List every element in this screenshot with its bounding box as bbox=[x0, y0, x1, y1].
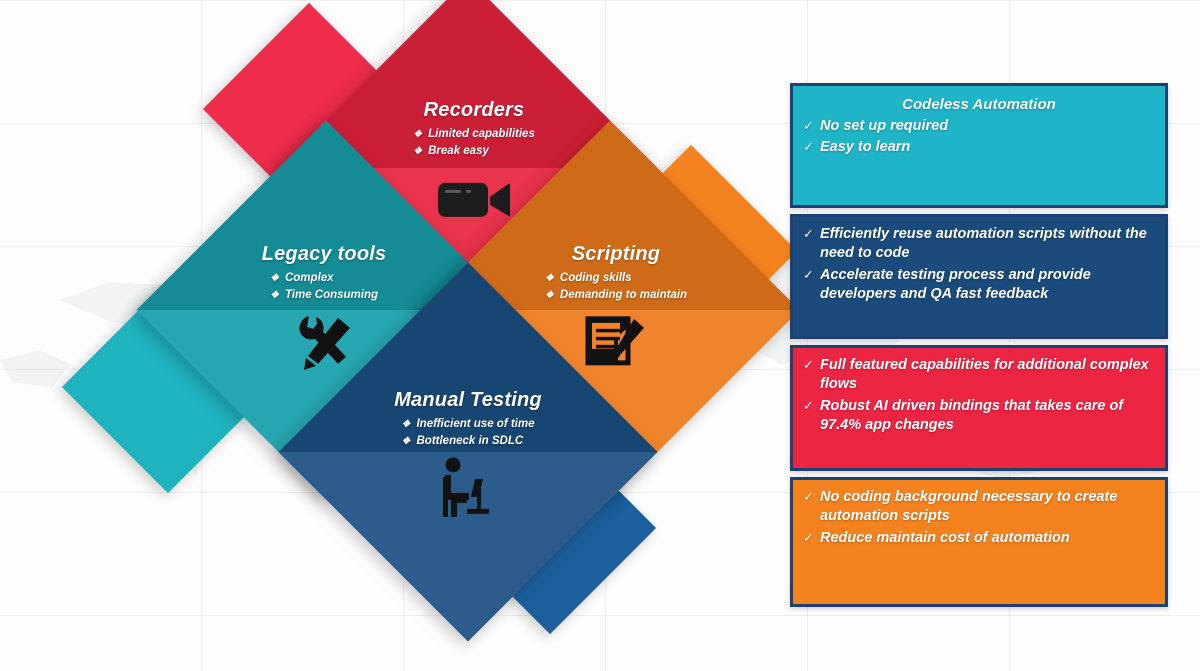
panel-items: ✓No set up required ✓Easy to learn bbox=[803, 117, 1155, 158]
panel-codeless-automation[interactable]: Codeless Automation ✓No set up required … bbox=[790, 83, 1168, 208]
panel-list-item: ✓Easy to learn bbox=[803, 138, 1155, 157]
check-icon: ✓ bbox=[803, 397, 814, 414]
check-icon: ✓ bbox=[803, 138, 814, 155]
panel-full-featured[interactable]: ✓Full featured capabilities for addition… bbox=[790, 345, 1168, 471]
check-icon: ✓ bbox=[803, 117, 814, 134]
panel-items: ✓Full featured capabilities for addition… bbox=[803, 356, 1155, 435]
check-icon: ✓ bbox=[803, 529, 814, 546]
infographic-canvas: Recorders ❖Limited capabilities ❖Break e… bbox=[0, 0, 1200, 671]
diamond-diagram: Recorders ❖Limited capabilities ❖Break e… bbox=[168, 26, 768, 646]
panel-item-text: Easy to learn bbox=[820, 139, 910, 155]
panel-item-text: No set up required bbox=[820, 118, 948, 134]
panel-item-text: Full featured capabilities for additiona… bbox=[820, 357, 1149, 392]
panel-list-item: ✓Full featured capabilities for addition… bbox=[803, 356, 1155, 395]
check-icon: ✓ bbox=[803, 266, 814, 283]
panel-item-text: Robust AI driven bindings that takes car… bbox=[820, 398, 1123, 433]
panel-item-text: Reduce maintain cost of automation bbox=[820, 530, 1070, 546]
panel-list-item: ✓No coding background necessary to creat… bbox=[803, 488, 1155, 527]
check-icon: ✓ bbox=[803, 488, 814, 505]
panel-item-text: Accelerate testing process and provide d… bbox=[820, 267, 1091, 302]
check-icon: ✓ bbox=[803, 225, 814, 242]
panel-list-item: ✓Robust AI driven bindings that takes ca… bbox=[803, 397, 1155, 436]
panel-list-item: ✓Accelerate testing process and provide … bbox=[803, 266, 1155, 305]
panel-reuse-scripts[interactable]: ✓Efficiently reuse automation scripts wi… bbox=[790, 214, 1168, 339]
panel-title-codeless-automation: Codeless Automation bbox=[803, 96, 1155, 113]
benefits-panel-list: Codeless Automation ✓No set up required … bbox=[790, 83, 1168, 613]
panel-item-text: No coding background necessary to create… bbox=[820, 489, 1117, 524]
panel-list-item: ✓No set up required bbox=[803, 117, 1155, 136]
panel-list-item: ✓Efficiently reuse automation scripts wi… bbox=[803, 225, 1155, 264]
panel-items: ✓No coding background necessary to creat… bbox=[803, 488, 1155, 548]
panel-list-item: ✓Reduce maintain cost of automation bbox=[803, 529, 1155, 548]
panel-items: ✓Efficiently reuse automation scripts wi… bbox=[803, 225, 1155, 304]
panel-no-coding-background[interactable]: ✓No coding background necessary to creat… bbox=[790, 477, 1168, 607]
panel-item-text: Efficiently reuse automation scripts wit… bbox=[820, 226, 1147, 261]
check-icon: ✓ bbox=[803, 356, 814, 373]
